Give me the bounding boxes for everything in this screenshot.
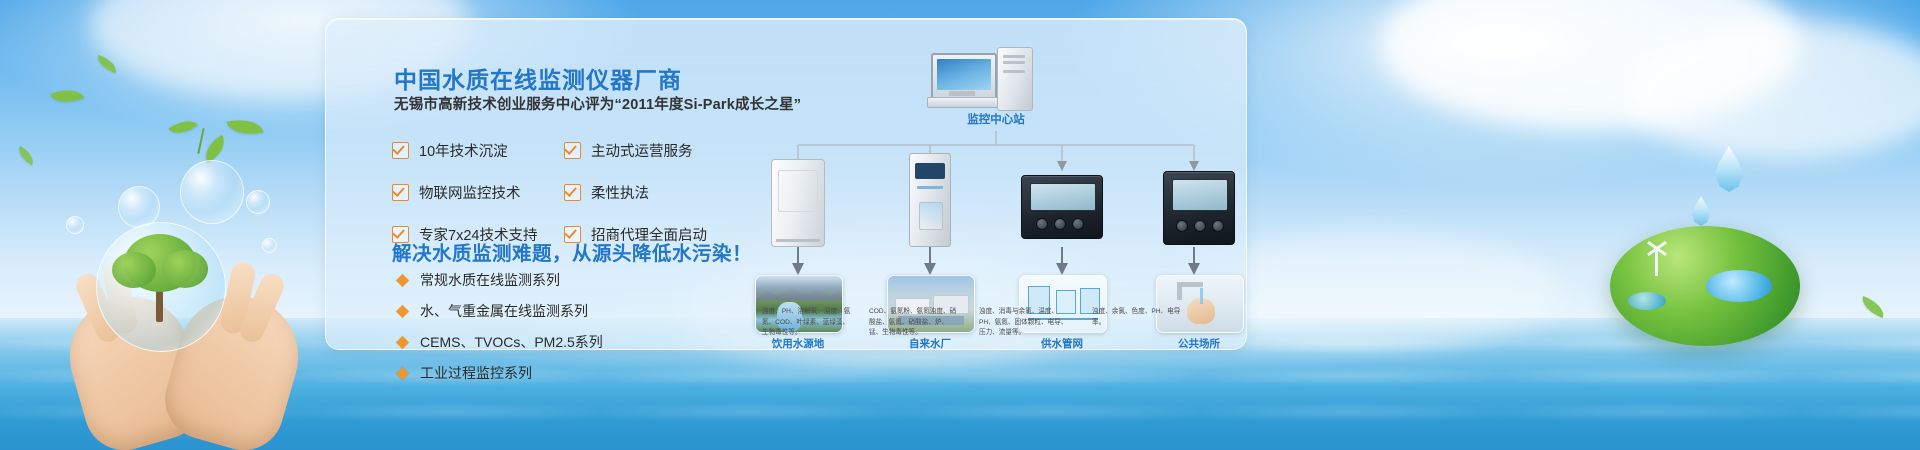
tree-crown-icon bbox=[112, 252, 156, 288]
rack-analyzer-icon bbox=[909, 153, 951, 247]
checkbox-icon bbox=[392, 184, 409, 201]
grass-globe-icon bbox=[1610, 226, 1800, 346]
scenario-description: COD、氨氮粉、氨氮浊度、硝酸盐、氨氮、硝酸盐、炉、锰、生物毒性等。 bbox=[869, 307, 961, 339]
product-line-label: 常规水质在线监测系列 bbox=[420, 270, 560, 290]
feature-label: 物联网监控技术 bbox=[419, 182, 521, 203]
feature-label: 柔性执法 bbox=[591, 182, 649, 203]
list-item[interactable]: CEMS、TVOCs、PM2.5系列 bbox=[398, 331, 603, 353]
product-line-label: 水、气重金属在线监测系列 bbox=[420, 301, 588, 321]
feature-row: 物联网监控技术 柔性执法 bbox=[392, 179, 812, 205]
checkbox-icon bbox=[564, 184, 581, 201]
panel-transmitter-icon bbox=[1163, 171, 1235, 245]
feature-row: 10年技术沉淀 主动式运营服务 bbox=[392, 137, 812, 163]
page-subtitle: 无锡市高新技术创业服务中心评为“2011年度Si-Park成长之星” bbox=[394, 93, 801, 114]
section-subheading: 解决水质监测难题，从源头降低水污染！ bbox=[392, 237, 752, 266]
feature-item[interactable]: 物联网监控技术 bbox=[392, 182, 564, 203]
scenario-description: 浊度、PH、溶解氧、温度、氨氮、COD、叶绿素、蓝绿藻、生物毒性等。 bbox=[762, 307, 854, 339]
list-item[interactable]: 水、气重金属在线监测系列 bbox=[398, 300, 603, 322]
diamond-bullet-icon bbox=[396, 274, 409, 287]
feature-item[interactable]: 柔性执法 bbox=[564, 182, 736, 203]
device-panel-controller bbox=[1019, 175, 1105, 239]
checkbox-icon bbox=[564, 142, 581, 159]
system-architecture-diagram: 监控中心站 bbox=[756, 33, 1236, 345]
monitoring-center-station bbox=[931, 47, 1061, 109]
diamond-bullet-icon bbox=[396, 305, 409, 318]
feature-item[interactable]: 主动式运营服务 bbox=[564, 140, 736, 161]
scenario-description: 浊度、消毒与余氯、温度、PH、氨氮、固体颗粒、电导、压力、流量等。 bbox=[979, 307, 1071, 339]
content-card: 中国水质在线监测仪器厂商 无锡市高新技术创业服务中心评为“2011年度Si-Pa… bbox=[325, 18, 1247, 350]
cabinet-analyzer-icon bbox=[771, 159, 825, 247]
checkbox-icon bbox=[392, 142, 409, 159]
keyboard-icon bbox=[927, 97, 1001, 108]
scenario-description: 浊度、余氯、色度、PH、电导率。 bbox=[1092, 307, 1184, 328]
diamond-bullet-icon bbox=[396, 336, 409, 349]
feature-label: 主动式运营服务 bbox=[591, 140, 693, 161]
banner-stage: 中国水质在线监测仪器厂商 无锡市高新技术创业服务中心评为“2011年度Si-Pa… bbox=[0, 0, 1920, 450]
list-item[interactable]: 常规水质在线监测系列 bbox=[398, 269, 603, 291]
product-line-label: 工业过程监控系列 bbox=[420, 363, 532, 383]
tree-crown-icon bbox=[162, 250, 208, 288]
bubble-icon bbox=[180, 160, 244, 224]
device-rack-analyzer bbox=[887, 153, 973, 247]
feature-item[interactable]: 10年技术沉淀 bbox=[392, 140, 564, 161]
diamond-bullet-icon bbox=[396, 367, 409, 380]
page-title: 中国水质在线监测仪器厂商 bbox=[394, 61, 682, 95]
list-item[interactable]: 工业过程监控系列 bbox=[398, 362, 603, 384]
bubble-icon bbox=[246, 190, 270, 214]
computer-tower-icon bbox=[997, 47, 1033, 111]
scenario-label: 公共场所 bbox=[1153, 336, 1245, 351]
device-panel-transmitter bbox=[1156, 171, 1242, 245]
panel-controller-icon bbox=[1021, 175, 1103, 239]
monitoring-center-label: 监控中心站 bbox=[906, 111, 1086, 127]
product-line-list: 常规水质在线监测系列 水、气重金属在线监测系列 CEMS、TVOCs、PM2.5… bbox=[398, 269, 603, 393]
feature-label: 10年技术沉淀 bbox=[419, 140, 508, 161]
product-line-label: CEMS、TVOCs、PM2.5系列 bbox=[420, 332, 603, 352]
device-cabinet-analyzer bbox=[755, 159, 841, 247]
